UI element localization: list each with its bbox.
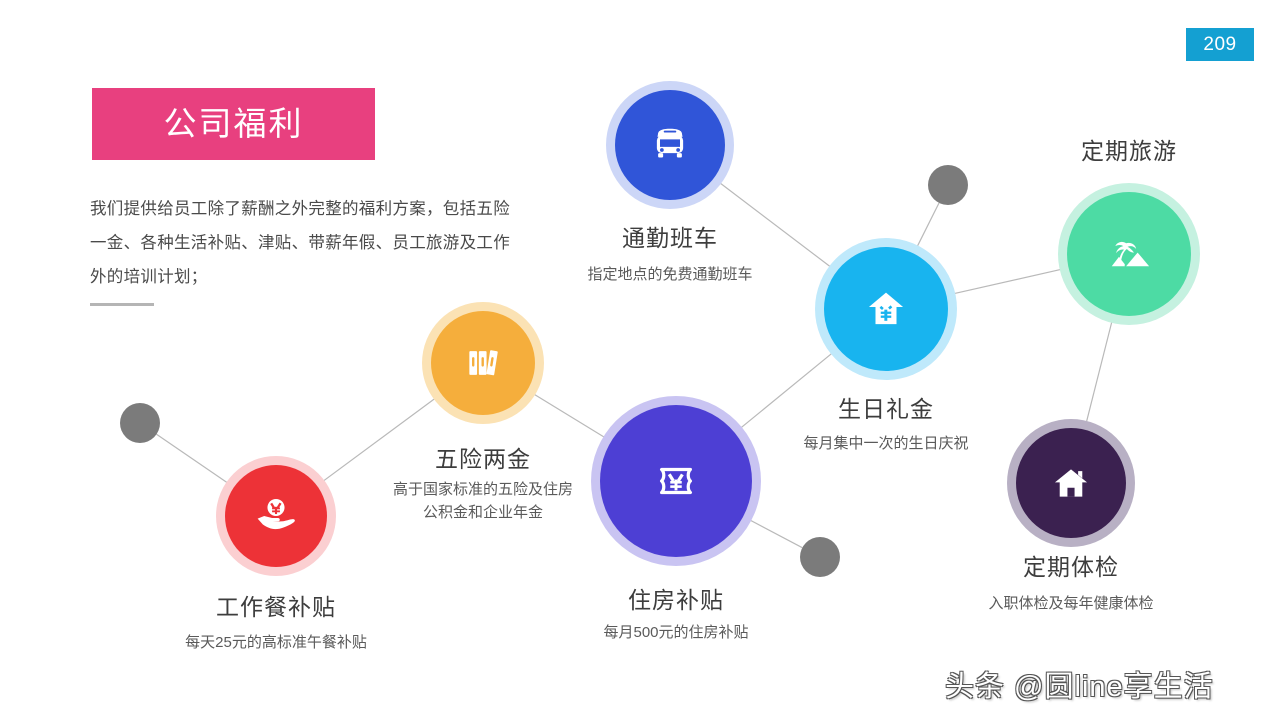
watermark: 头条 @圆line享生活: [945, 663, 1214, 705]
node-label: 住房补贴: [526, 581, 826, 615]
connector-line: [914, 203, 939, 254]
house-yen-icon[interactable]: [824, 247, 948, 371]
connector-line: [157, 434, 234, 487]
books-icon[interactable]: [431, 311, 535, 415]
node-label: 生日礼金: [736, 390, 1036, 424]
node-description: 高于国家标准的五险及住房公积金和企业年金: [393, 478, 573, 524]
node-description: 指定地点的免费通勤班车: [520, 263, 820, 286]
connector-line: [527, 390, 611, 441]
palm-mountain-icon[interactable]: [1067, 192, 1191, 316]
connector-line: [1085, 314, 1114, 430]
connector-line: [946, 268, 1068, 296]
ticket-yen-icon[interactable]: [600, 405, 752, 557]
node-description: 每月500元的住房补贴: [526, 621, 826, 644]
accent-dot: [928, 165, 968, 205]
node-label: 定期旅游: [979, 132, 1279, 166]
node-description: 每月集中一次的生日庆祝: [736, 432, 1036, 455]
node-label: 定期体检: [921, 548, 1221, 582]
node-description: 每天25元的高标准午餐补贴: [116, 631, 436, 654]
home-icon[interactable]: [1016, 428, 1126, 538]
slide-canvas: 209 公司福利 我们提供给员工除了薪酬之外完整的福利方案，包括五险一金、各种生…: [0, 0, 1280, 720]
bus-icon[interactable]: [615, 90, 725, 200]
connector-line: [743, 516, 802, 547]
node-label: 通勤班车: [520, 219, 820, 253]
hand-coin-icon[interactable]: [225, 465, 327, 567]
accent-dot: [800, 537, 840, 577]
node-label: 五险两金: [333, 440, 633, 474]
accent-dot: [120, 403, 160, 443]
node-description: 入职体检及每年健康体检: [921, 592, 1221, 615]
node-label: 工作餐补贴: [126, 588, 426, 622]
